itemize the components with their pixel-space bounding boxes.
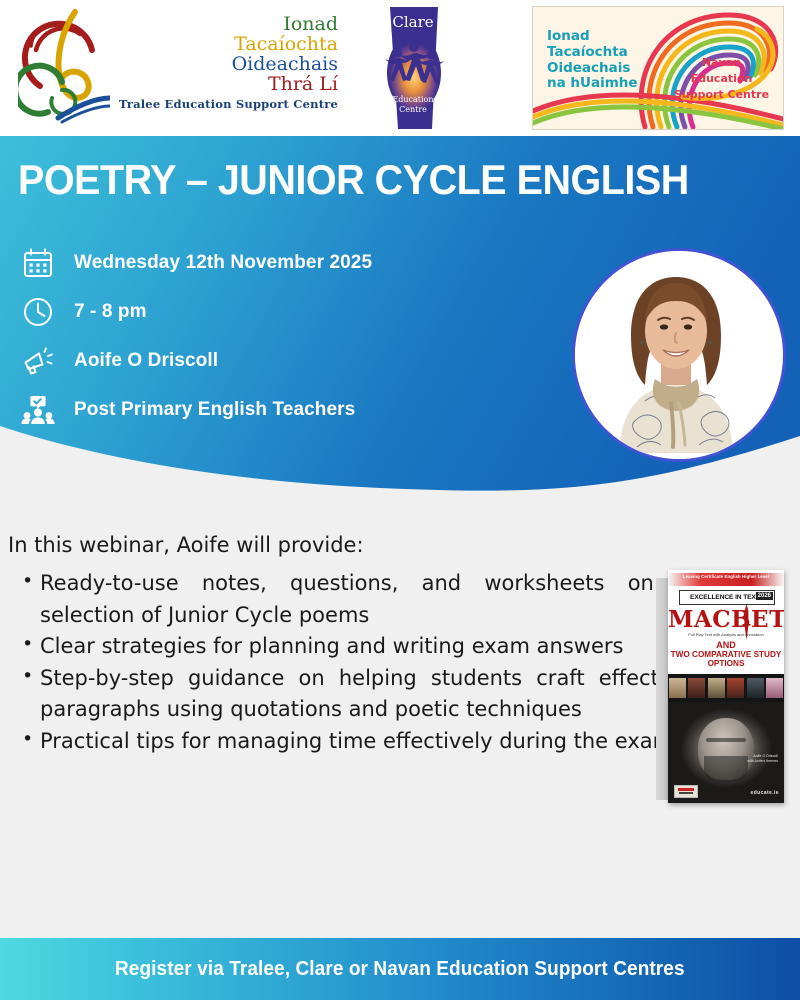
tralee-logo-wordmark: Ionad Tacaíochta Oideachais Thrá Lí Tral… <box>108 14 338 110</box>
book-year-badge: 2026 <box>756 592 773 600</box>
event-detail-date: Wednesday 12th November 2025 <box>16 240 536 285</box>
tralee-line-2: Tacaíochta <box>108 34 338 54</box>
clare-subtitle-line-1: Education <box>392 95 433 104</box>
book-author-subtitle: with Aoife's themes <box>747 759 778 763</box>
intro-text: In this webinar, Aoife will provide: <box>8 533 364 557</box>
megaphone-icon <box>16 341 60 381</box>
navan-irish-line-4: na hUaimhe <box>547 75 638 91</box>
filmstrip-cell <box>766 678 783 698</box>
book-options-line-2: OPTIONS <box>708 659 745 668</box>
book-title: MACBETH <box>668 606 784 633</box>
footer-register-banner[interactable]: Register via Tralee, Clare or Navan Educ… <box>0 938 800 1000</box>
clare-subtitle-line-2: Centre <box>399 105 427 114</box>
clare-logo-subtitle: Education Centre <box>368 95 458 115</box>
header-logo-bar: Ionad Tacaíochta Oideachais Thrá Lí Tral… <box>0 0 800 136</box>
event-date-text: Wednesday 12th November 2025 <box>74 252 372 274</box>
book-macbeth-portrait: Aoife O Driscoll with Aoife's themes edu… <box>668 702 784 803</box>
filmstrip-cell <box>708 678 725 698</box>
audience-glyph <box>21 394 55 426</box>
navan-english-line-2: Education <box>691 72 753 85</box>
event-presenter-text: Aoife O Driscoll <box>74 350 218 372</box>
event-audience-text: Post Primary English Teachers <box>74 399 355 421</box>
navan-education-support-centre-logo: Ionad Tacaíochta Oideachais na hUaimhe N… <box>532 6 784 130</box>
navan-english-line-3: Support Centre <box>674 88 769 101</box>
filmstrip-cell <box>747 678 764 698</box>
navan-irish-line-3: Oideachais <box>547 60 630 76</box>
book-banner-text: Leaving Certificate English Higher Level <box>668 574 784 579</box>
tralee-line-3: Oideachais <box>108 54 338 74</box>
list-item: Clear strategies for planning and writin… <box>40 631 690 663</box>
book-series-text: EXCELLENCE IN TEXTS <box>690 594 764 601</box>
webinar-poster: Ionad Tacaíochta Oideachais Thrá Lí Tral… <box>0 0 800 1000</box>
presenter-photo <box>575 251 777 453</box>
navan-logo-irish-text: Ionad Tacaíochta Oideachais na hUaimhe <box>547 29 638 92</box>
benefits-list: Ready-to-use notes, questions, and works… <box>8 568 690 757</box>
book-author: Aoife O Driscoll with Aoife's themes <box>747 754 778 764</box>
book-front-cover: Leaving Certificate English Higher Level… <box>668 570 784 803</box>
tralee-swirl-icon <box>18 6 110 124</box>
book-author-name: Aoife O Driscoll <box>753 754 778 758</box>
event-detail-presenter: Aoife O Driscoll <box>16 338 536 383</box>
macbeth-textbook-cover: Leaving Certificate English Higher Level… <box>662 570 784 805</box>
audience-icon <box>16 390 60 430</box>
book-options-line-1: TWO COMPARATIVE STUDY <box>671 650 782 659</box>
book-and-text: AND <box>668 640 784 650</box>
navan-irish-line-2: Tacaíochta <box>547 44 628 60</box>
calendar-icon <box>16 243 60 283</box>
presenter-portrait <box>572 248 786 462</box>
tralee-subtitle: Tralee Education Support Centre <box>108 98 338 110</box>
tralee-line-4: Thrá Lí <box>108 74 338 94</box>
macbeth-beard <box>704 756 748 782</box>
filmstrip-cell <box>727 678 744 698</box>
event-detail-audience: Post Primary English Teachers <box>16 387 536 432</box>
navan-logo-english-text: Navan Education Support Centre <box>669 55 774 103</box>
book-subtitle-small: Full Play Text with Analysis and Annotat… <box>668 632 784 637</box>
event-detail-time: 7 - 8 pm <box>16 289 536 334</box>
tralee-education-support-centre-logo: Ionad Tacaíochta Oideachais Thrá Lí Tral… <box>18 6 338 132</box>
list-item: Ready-to-use notes, questions, and works… <box>40 568 690 631</box>
book-options-text: TWO COMPARATIVE STUDY OPTIONS <box>670 650 782 669</box>
event-details-list: Wednesday 12th November 2025 7 - 8 pm <box>16 240 536 436</box>
clock-icon <box>16 292 60 332</box>
filmstrip-cell <box>669 678 686 698</box>
book-corner-logo <box>674 785 698 798</box>
book-filmstrip <box>668 674 784 702</box>
clare-logo-title: Clare <box>368 13 458 31</box>
macbeth-brow <box>706 738 746 742</box>
book-series-badge: EXCELLENCE IN TEXTS 2026 <box>679 590 775 605</box>
book-publisher: educate.ie <box>751 790 779 796</box>
list-item: Step-by-step guidance on helping student… <box>40 663 690 726</box>
navan-irish-line-1: Ionad <box>547 28 590 44</box>
list-item: Practical tips for managing time effecti… <box>40 726 690 758</box>
tralee-line-1: Ionad <box>108 14 338 34</box>
footer-register-text: Register via Tralee, Clare or Navan Educ… <box>115 958 685 981</box>
clare-education-centre-logo: Clare Education Centre <box>368 3 458 133</box>
filmstrip-cell <box>688 678 705 698</box>
event-time-text: 7 - 8 pm <box>74 301 147 323</box>
page-title: POETRY – JUNIOR CYCLE ENGLISH <box>18 156 714 204</box>
navan-english-line-1: Navan <box>702 56 741 69</box>
